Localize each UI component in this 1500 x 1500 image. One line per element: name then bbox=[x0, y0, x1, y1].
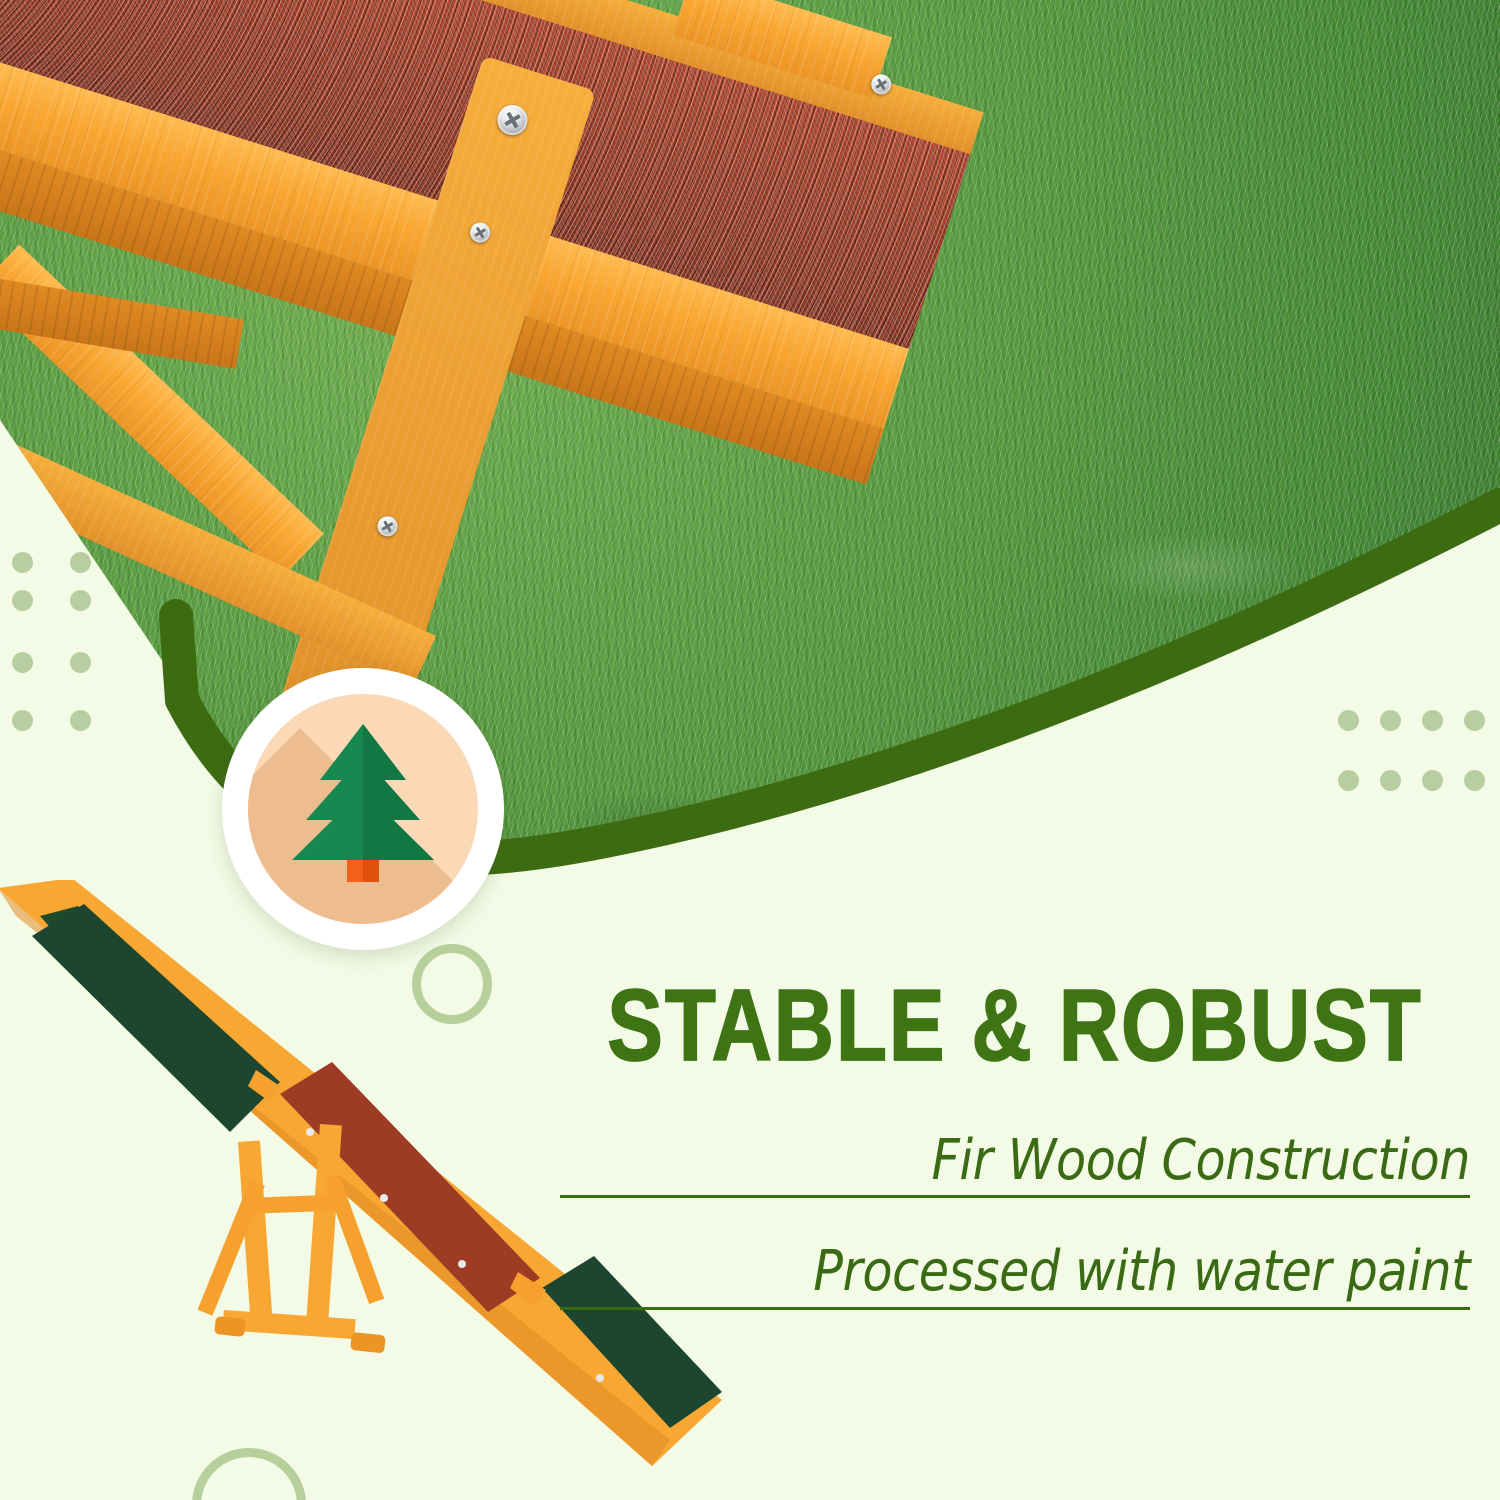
page-title: STABLE & ROBUST bbox=[574, 975, 1457, 1076]
hero-photo bbox=[0, 0, 1500, 900]
subhead-2-underline bbox=[560, 1307, 1470, 1310]
subhead-water-paint: Processed with water paint bbox=[669, 1242, 1470, 1302]
dot bbox=[12, 710, 33, 731]
dot bbox=[1338, 710, 1359, 731]
subhead-2-wrap: Processed with water paint bbox=[560, 1242, 1470, 1309]
hero-photo-image bbox=[0, 0, 1500, 900]
decorative-dot-grid-right bbox=[1338, 710, 1500, 791]
dot bbox=[1422, 710, 1443, 731]
subhead-1-underline bbox=[560, 1195, 1470, 1198]
dot bbox=[12, 590, 33, 611]
dot bbox=[12, 652, 33, 673]
dot bbox=[70, 590, 91, 611]
subhead-1-wrap: Fir Wood Construction bbox=[560, 1131, 1470, 1198]
poster-canvas: STABLE & ROBUST Fir Wood Construction Pr… bbox=[0, 0, 1500, 1500]
screw-icon bbox=[596, 1374, 604, 1382]
screw-icon bbox=[380, 1194, 388, 1202]
dot bbox=[1380, 770, 1401, 791]
copy-block: STABLE & ROBUST Fir Wood Construction Pr… bbox=[560, 975, 1470, 1310]
dot bbox=[1422, 770, 1443, 791]
screw-icon bbox=[458, 1260, 466, 1268]
dot bbox=[70, 552, 91, 573]
dot bbox=[70, 710, 91, 731]
screw-icon bbox=[306, 1128, 314, 1136]
decorative-dot-grid-left bbox=[12, 552, 128, 731]
dot bbox=[1380, 710, 1401, 731]
dot bbox=[1464, 710, 1485, 731]
subhead-fir-wood: Fir Wood Construction bbox=[669, 1131, 1470, 1191]
dot bbox=[70, 652, 91, 673]
dot bbox=[1338, 770, 1359, 791]
dot bbox=[1464, 770, 1485, 791]
dot bbox=[12, 552, 33, 573]
